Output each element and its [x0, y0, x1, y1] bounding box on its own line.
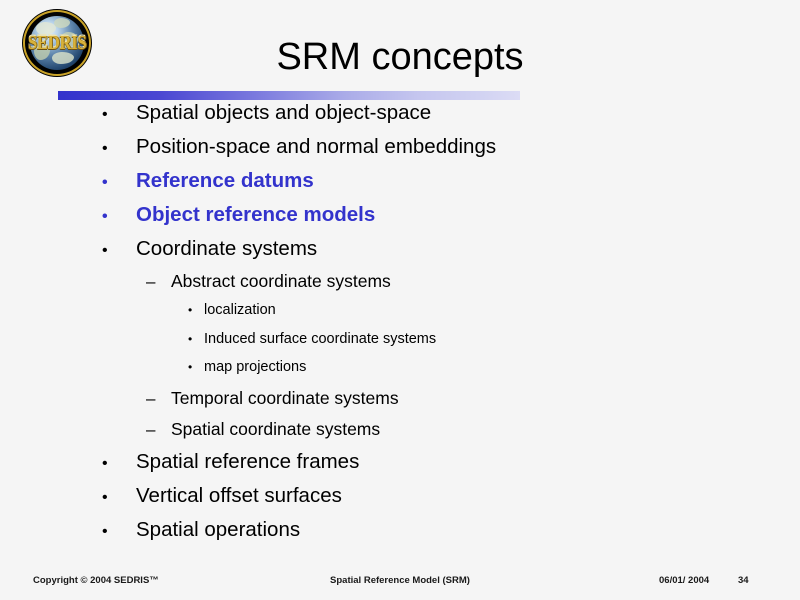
slide-footer: Copyright © 2004 SEDRIS™ Spatial Referen… — [0, 574, 800, 594]
bullet-list: • Spatial objects and object-space • Pos… — [0, 101, 800, 552]
list-item: • Coordinate systems — [0, 237, 800, 271]
list-item-label: Reference datums — [136, 169, 314, 193]
bullet-marker: • — [102, 107, 136, 123]
footer-page-number: 34 — [738, 575, 749, 586]
list-item: • Spatial operations — [0, 518, 800, 552]
bullet-marker: • — [102, 209, 136, 225]
list-item-label: Temporal coordinate systems — [171, 388, 399, 409]
list-item: • Induced surface coordinate systems — [0, 331, 800, 360]
list-item-label: Coordinate systems — [136, 237, 317, 261]
list-item-label: Position-space and normal embeddings — [136, 135, 496, 159]
list-item-label: Spatial coordinate systems — [171, 419, 380, 440]
list-item-label: Spatial reference frames — [136, 450, 359, 474]
bullet-marker: – — [146, 421, 171, 438]
list-item: • Spatial reference frames — [0, 450, 800, 484]
bullet-marker: • — [102, 524, 136, 540]
list-item: • Position-space and normal embeddings — [0, 135, 800, 169]
list-item: • map projections — [0, 359, 800, 388]
list-item: • Object reference models — [0, 203, 800, 237]
list-item-label: Spatial objects and object-space — [136, 101, 431, 125]
list-item-label: Object reference models — [136, 203, 375, 227]
list-item: – Spatial coordinate systems — [0, 419, 800, 450]
bullet-marker: • — [102, 456, 136, 472]
list-item-label: Vertical offset surfaces — [136, 484, 342, 508]
list-item: • localization — [0, 302, 800, 331]
list-item: • Vertical offset surfaces — [0, 484, 800, 518]
list-item: – Temporal coordinate systems — [0, 388, 800, 419]
bullet-marker: • — [188, 333, 204, 345]
bullet-marker: • — [102, 243, 136, 259]
list-item: • Spatial objects and object-space — [0, 101, 800, 135]
footer-date: 06/01/ 2004 — [659, 575, 709, 586]
bullet-marker: – — [146, 273, 171, 290]
list-item-label: localization — [204, 302, 276, 318]
bullet-marker: • — [102, 141, 136, 157]
list-item-label: Spatial operations — [136, 518, 300, 542]
slide-title: SRM concepts — [100, 36, 700, 79]
list-item-label: Abstract coordinate systems — [171, 271, 391, 292]
list-item: – Abstract coordinate systems — [0, 271, 800, 302]
bullet-marker: • — [188, 361, 204, 373]
bullet-marker: • — [102, 175, 136, 191]
list-item: • Reference datums — [0, 169, 800, 203]
logo-disc: SEDRIS — [22, 9, 92, 77]
list-item-label: Induced surface coordinate systems — [204, 331, 436, 347]
bullet-marker: • — [102, 490, 136, 506]
sedris-logo: SEDRIS — [22, 9, 92, 77]
logo-wordmark: SEDRIS — [22, 9, 92, 77]
list-item-label: map projections — [204, 359, 306, 375]
bullet-marker: • — [188, 304, 204, 316]
bullet-marker: – — [146, 390, 171, 407]
title-underline-gradient — [58, 91, 520, 100]
